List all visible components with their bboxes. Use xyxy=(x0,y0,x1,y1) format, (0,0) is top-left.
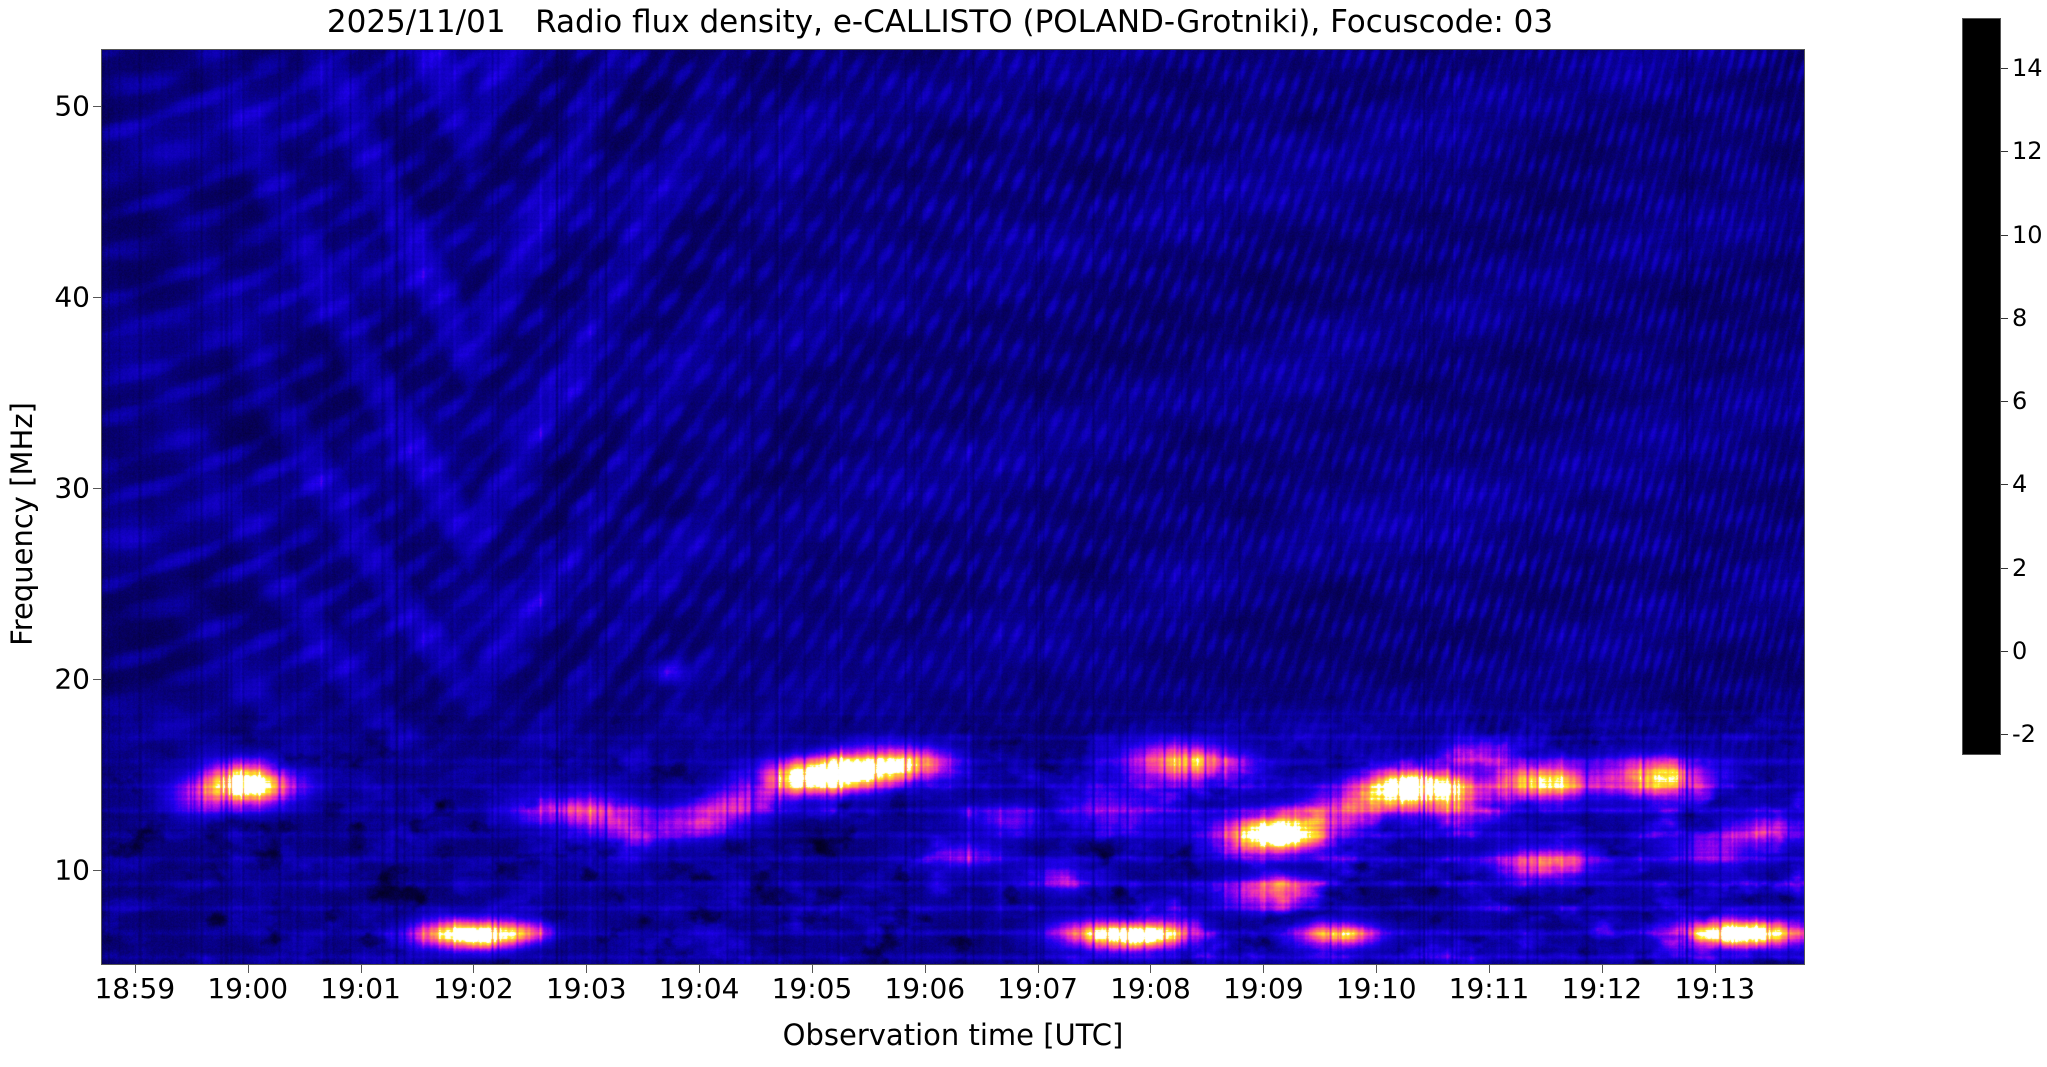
colorbar-tick-label: 4 xyxy=(2012,470,2027,498)
page-title: 2025/11/01 Radio flux density, e-CALLIST… xyxy=(0,4,1880,40)
colorbar-tick-label: 0 xyxy=(2012,637,2027,665)
y-tick-mark xyxy=(93,870,101,871)
colorbar-tick-mark xyxy=(2001,401,2008,402)
colorbar[interactable]: -202468101214 xyxy=(1962,18,2001,755)
colorbar-tick-mark xyxy=(2001,68,2008,69)
colorbar-tick-mark xyxy=(2001,568,2008,569)
y-tick-label: 10 xyxy=(30,853,90,886)
colorbar-gradient xyxy=(1962,18,2001,755)
y-tick-label: 30 xyxy=(30,471,90,504)
colorbar-tick-label: -2 xyxy=(2012,720,2036,748)
colorbar-tick-mark xyxy=(2001,235,2008,236)
colorbar-tick-mark xyxy=(2001,151,2008,152)
colorbar-tick-label: 12 xyxy=(2012,137,2043,165)
y-axis-label: Frequency [MHz] xyxy=(5,294,39,754)
y-tick-label: 50 xyxy=(30,90,90,123)
y-tick-label: 40 xyxy=(30,281,90,314)
colorbar-tick-label: 2 xyxy=(2012,554,2027,582)
y-tick-label: 20 xyxy=(30,662,90,695)
spectrogram-image xyxy=(102,50,1804,964)
y-tick-mark xyxy=(93,297,101,298)
colorbar-tick-mark xyxy=(2001,651,2008,652)
colorbar-tick-label: 14 xyxy=(2012,54,2043,82)
colorbar-tick-mark xyxy=(2001,734,2008,735)
colorbar-tick-label: 10 xyxy=(2012,221,2043,249)
y-tick-mark xyxy=(93,679,101,680)
colorbar-tick-label: 8 xyxy=(2012,304,2027,332)
colorbar-tick-mark xyxy=(2001,484,2008,485)
spectrogram-figure: 2025/11/01 Radio flux density, e-CALLIST… xyxy=(0,0,2047,1067)
y-tick-mark xyxy=(93,488,101,489)
spectrogram-plot-area[interactable] xyxy=(101,49,1805,965)
colorbar-tick-mark xyxy=(2001,318,2008,319)
colorbar-tick-label: 6 xyxy=(2012,387,2027,415)
x-axis-label: Observation time [UTC] xyxy=(101,1018,1805,1052)
x-tick-label: 19:13 xyxy=(1635,972,1795,1005)
y-tick-mark xyxy=(93,106,101,107)
